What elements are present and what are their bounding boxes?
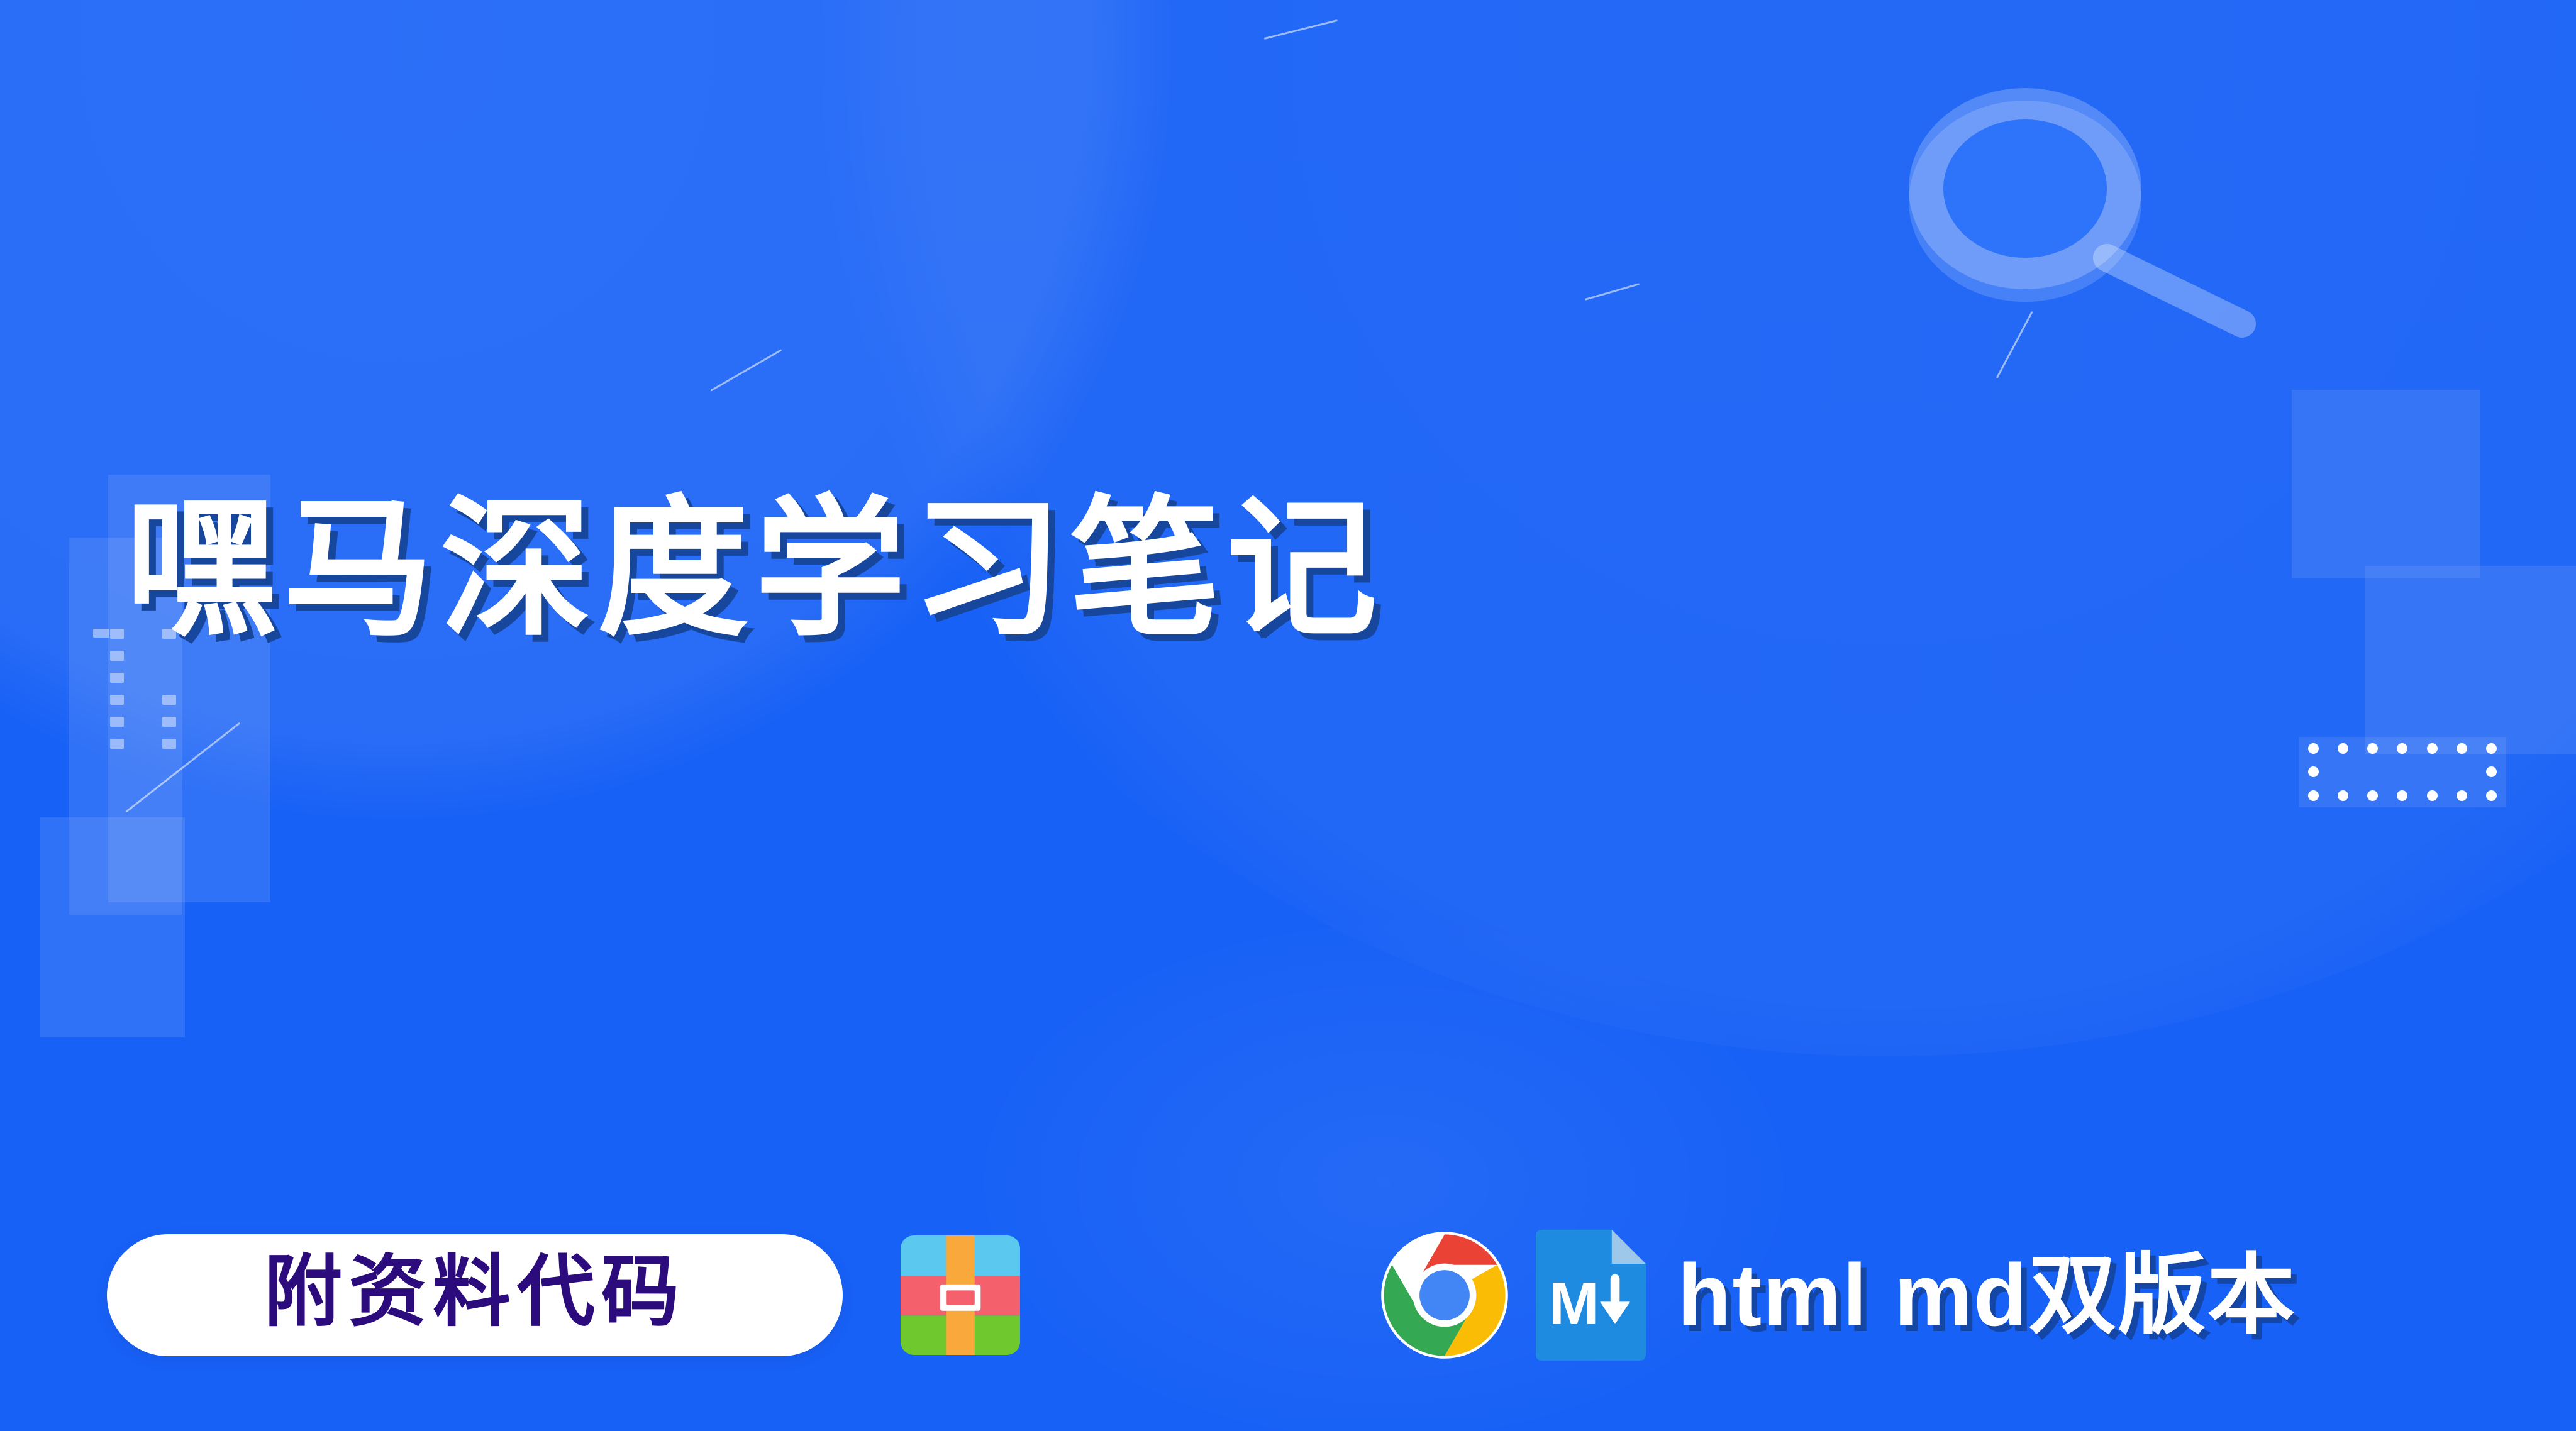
grid-dot (2308, 766, 2319, 777)
markdown-file-icon: M (1536, 1229, 1646, 1361)
grid-dot (2367, 743, 2378, 754)
grid-dot (2457, 766, 2467, 777)
grid-dot (2308, 743, 2319, 754)
grid-dot (2486, 766, 2497, 777)
decorative-building-short (40, 817, 185, 1037)
promo-banner: 嘿马深度学习笔记 附资料代码 (0, 0, 2576, 1431)
decorative-rectangle-upper-right (2292, 390, 2480, 578)
building-window (110, 717, 124, 727)
grid-dot (2397, 790, 2407, 801)
grid-dot (2367, 766, 2378, 777)
decorative-diagonal-line (1264, 19, 1338, 40)
magnifier-icon (1899, 88, 2277, 340)
page-title: 嘿马深度学习笔记 (126, 494, 1384, 644)
grid-dot (2427, 743, 2438, 754)
markdown-letter: M (1549, 1270, 1599, 1337)
grid-dot (2338, 743, 2348, 754)
decorative-diagonal-line (1585, 283, 1640, 301)
building-window (110, 673, 124, 683)
grid-dot (2397, 766, 2407, 777)
building-window (162, 717, 176, 727)
chrome-icon (1379, 1229, 1511, 1361)
bottom-bar: 附资料代码 (0, 1213, 2576, 1377)
grid-dot (2367, 790, 2378, 801)
decorative-rectangle-mid-right (2365, 566, 2576, 754)
grid-dot (2486, 743, 2497, 754)
grid-dot (2457, 790, 2467, 801)
resource-badge-label: 附资料代码 (264, 1251, 686, 1335)
grid-dot (2427, 766, 2438, 777)
resource-badge[interactable]: 附资料代码 (107, 1234, 843, 1356)
grid-dot (2457, 743, 2467, 754)
grid-dot (2338, 790, 2348, 801)
building-window (110, 651, 124, 661)
grid-dot (2397, 743, 2407, 754)
grid-dot (2427, 790, 2438, 801)
building-window (110, 695, 124, 705)
building-window (162, 739, 176, 749)
building-window (93, 629, 109, 638)
tagline-text: html md双版本 (1677, 1251, 2296, 1339)
decorative-diagonal-line (710, 349, 782, 392)
decorative-dot-grid (2299, 737, 2506, 807)
archive-rar-icon (901, 1235, 1020, 1355)
building-window (110, 739, 124, 749)
building-window (110, 629, 124, 639)
building-window (162, 695, 176, 705)
grid-dot (2308, 790, 2319, 801)
grid-dot (2338, 766, 2348, 777)
grid-dot (2486, 790, 2497, 801)
